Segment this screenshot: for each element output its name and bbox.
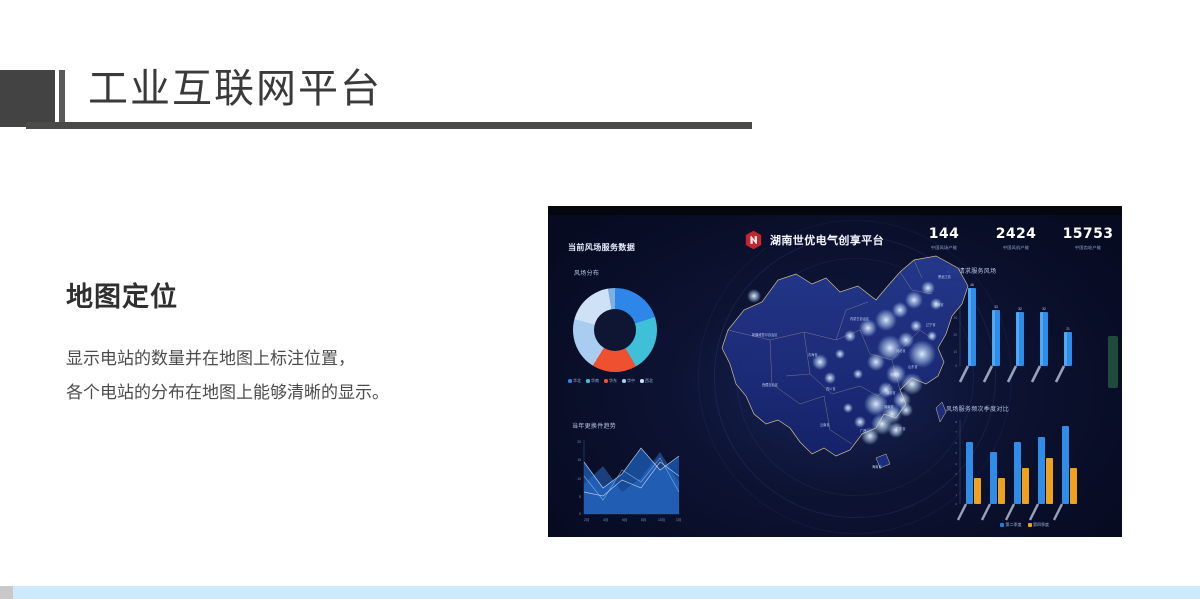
legend-item-1: 华南 xyxy=(586,378,599,384)
legend-label-1: 华南 xyxy=(591,378,599,384)
svg-text:新疆维吾尔自治区: 新疆维吾尔自治区 xyxy=(752,332,778,337)
svg-text:4月: 4月 xyxy=(603,518,608,522)
svg-text:20: 20 xyxy=(577,440,581,444)
trend-chart-title: 当年更换件趋势 xyxy=(572,421,616,430)
page-title: 工业互联网平台 xyxy=(88,64,382,114)
svg-text:10月: 10月 xyxy=(658,518,665,522)
svg-text:四川省: 四川省 xyxy=(826,386,836,391)
quarter-legend-swatch-1 xyxy=(1028,523,1032,527)
svg-text:10: 10 xyxy=(577,477,581,481)
quarter-legend-label-1: 第四季度 xyxy=(1033,522,1049,528)
left-panel-title: 当前风场服务数据 xyxy=(568,242,635,253)
svg-text:西藏自治区: 西藏自治区 xyxy=(762,382,779,387)
legend-label-4: 西北 xyxy=(645,378,653,384)
quarter-legend-item-1: 第四季度 xyxy=(1028,522,1050,528)
quarter-chart-legend: 第二季度 第四季度 xyxy=(1000,522,1049,528)
kpi-label-3: 中国齿轮产能 xyxy=(1054,245,1122,251)
body-line-2: 各个电站的分布在地图上能够清晰的显示。 xyxy=(66,376,496,410)
legend-swatch-2 xyxy=(604,379,608,383)
donut-chart-title: 风场分布 xyxy=(574,268,599,277)
body-line-1: 显示电站的数量并在地图上标注位置， xyxy=(66,342,496,376)
svg-text:32: 32 xyxy=(1018,307,1022,311)
quarter-legend-swatch-0 xyxy=(1000,523,1004,527)
kpi-value-3: 15753 xyxy=(1054,226,1122,242)
svg-text:5: 5 xyxy=(579,495,581,499)
china-map[interactable]: 新疆维吾尔自治区 西藏自治区 青海省 四川省 云南省 内蒙古自治区 黑龙江省 吉… xyxy=(700,244,1000,519)
header-underline xyxy=(26,122,752,129)
legend-swatch-4 xyxy=(640,379,644,383)
svg-text:15: 15 xyxy=(577,458,581,462)
dashboard-titlebar xyxy=(548,206,1122,215)
wind-farm-distribution-donut xyxy=(573,288,657,372)
kpi-value-2: 2424 xyxy=(982,226,1050,242)
legend-item-3: 华中 xyxy=(622,378,635,384)
kpi-card-3: 15753 中国齿轮产能 xyxy=(1054,226,1122,251)
legend-item-0: 华北 xyxy=(568,378,581,384)
svg-text:6月: 6月 xyxy=(622,518,627,522)
footer-square xyxy=(0,586,13,599)
quarter-legend-label-0: 第二季度 xyxy=(1006,522,1022,528)
svg-text:2月: 2月 xyxy=(584,518,589,522)
legend-swatch-1 xyxy=(586,379,590,383)
svg-text:黑龙江省: 黑龙江省 xyxy=(938,274,952,279)
header-accent-block xyxy=(0,70,55,127)
svg-text:21: 21 xyxy=(1066,327,1070,331)
replacement-parts-trend-chart: 20 15 10 5 0 2月 4月 6月 8月 10月 1月 xyxy=(572,436,682,524)
quarter-legend-item-0: 第二季度 xyxy=(1000,522,1022,528)
svg-text:海南省: 海南省 xyxy=(872,464,882,469)
header-accent-bar xyxy=(59,70,65,127)
donut-legend: 华北 华南 华东 华中 西北 xyxy=(568,378,653,384)
footer-strip xyxy=(13,586,1200,599)
svg-text:8月: 8月 xyxy=(641,518,646,522)
svg-text:0: 0 xyxy=(579,512,581,516)
dashboard-screenshot: 湖南世优电气创享平台 144 中国风场产能 2424 中国风机产能 15753 … xyxy=(548,206,1122,537)
svg-text:32: 32 xyxy=(1042,307,1046,311)
legend-label-2: 华东 xyxy=(609,378,617,384)
svg-text:1月: 1月 xyxy=(676,518,681,522)
section-title: 地图定位 xyxy=(66,275,178,314)
legend-swatch-3 xyxy=(622,379,626,383)
legend-label-3: 华中 xyxy=(627,378,635,384)
legend-item-4: 西北 xyxy=(640,378,653,384)
slide-canvas: 工业互联网平台 地图定位 显示电站的数量并在地图上标注位置， 各个电站的分布在地… xyxy=(0,0,1200,599)
legend-swatch-0 xyxy=(568,379,572,383)
legend-label-0: 华北 xyxy=(573,378,581,384)
legend-item-2: 华东 xyxy=(604,378,617,384)
kpi-value-1: 144 xyxy=(910,226,978,242)
section-body: 显示电站的数量并在地图上标注位置， 各个电站的分布在地图上能够清晰的显示。 xyxy=(66,342,496,410)
svg-text:辽宁省: 辽宁省 xyxy=(926,322,936,327)
svg-text:云南省: 云南省 xyxy=(820,422,830,427)
side-panel-tab[interactable] xyxy=(1108,336,1118,388)
